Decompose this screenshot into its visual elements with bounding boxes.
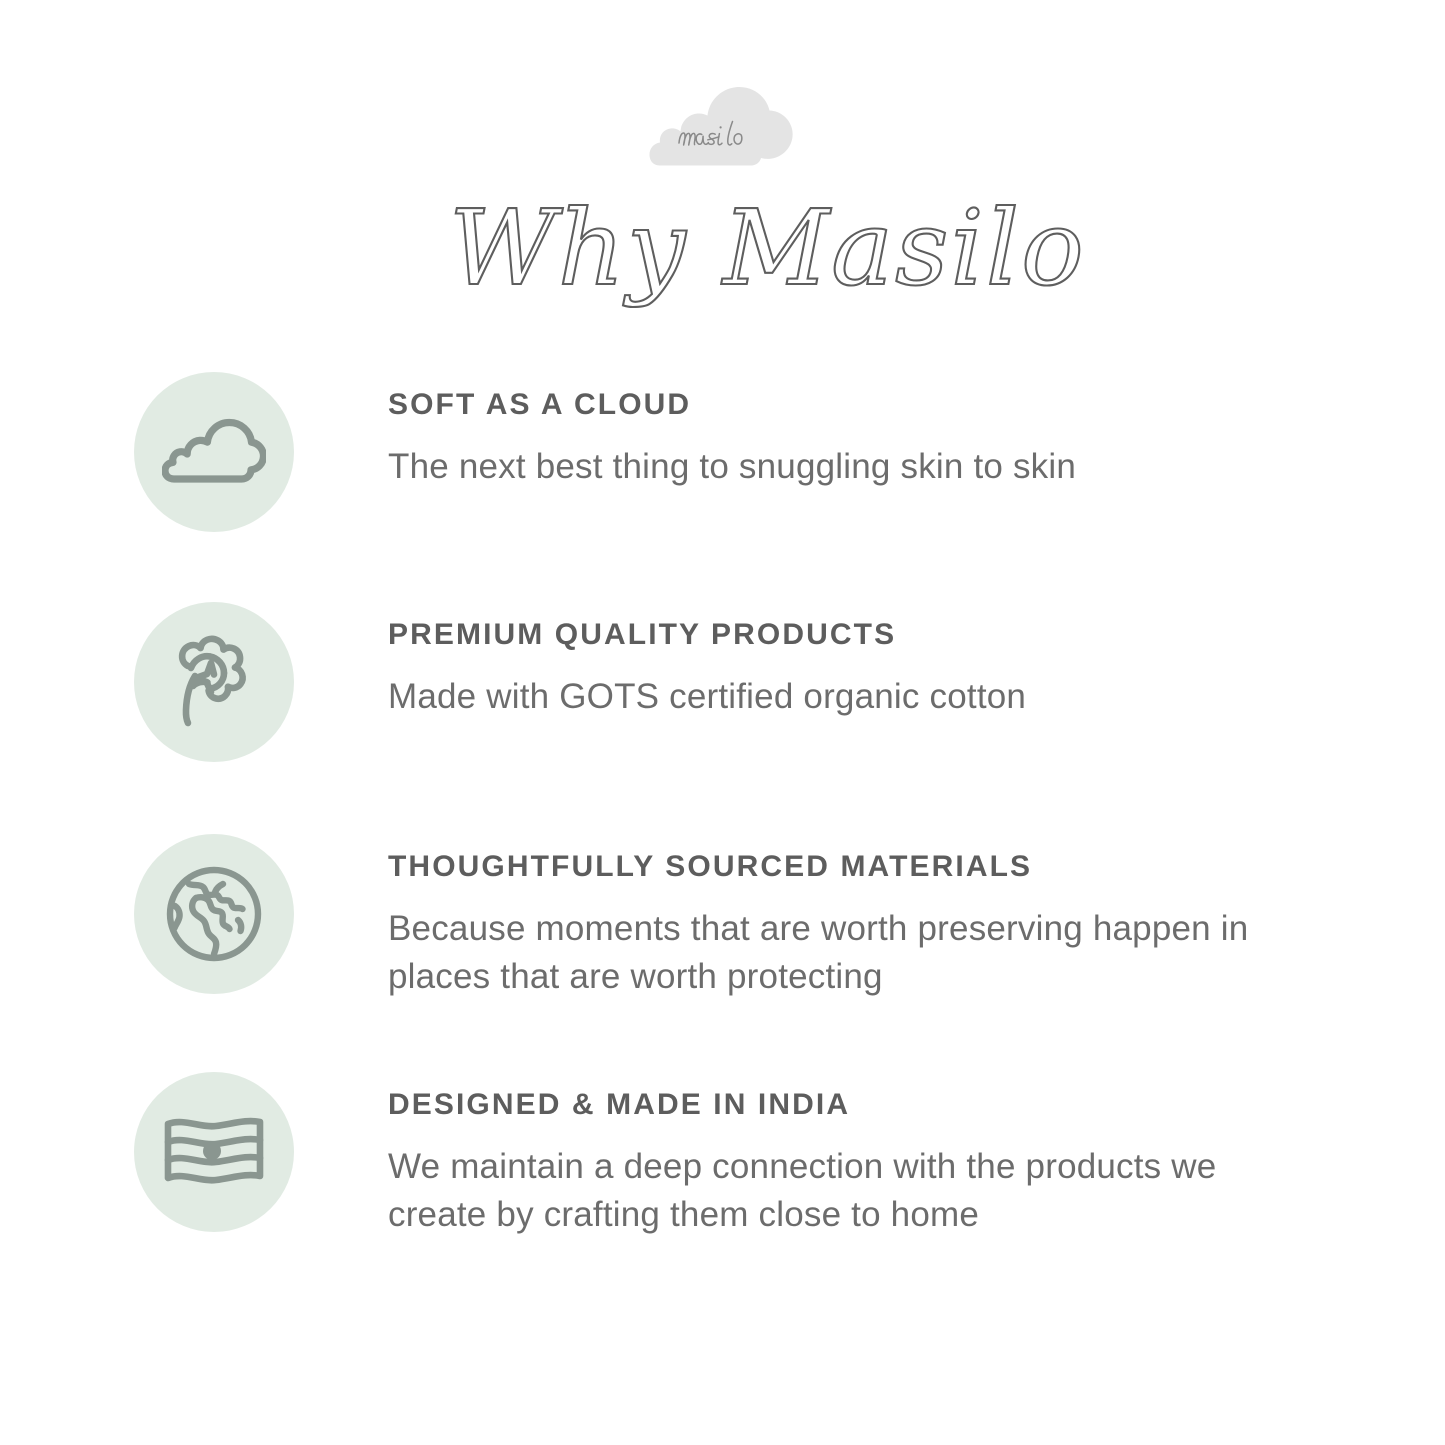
page-title: Why Masilo bbox=[0, 186, 1445, 316]
feature-row: DESIGNED & MADE IN INDIA We maintain a d… bbox=[0, 1072, 1445, 1322]
feature-description: Because moments that are worth preservin… bbox=[388, 905, 1288, 1002]
feature-row: SOFT AS A CLOUD The next best thing to s… bbox=[0, 372, 1445, 602]
cloud-icon bbox=[162, 411, 266, 493]
india-flag-icon bbox=[162, 1114, 266, 1190]
feature-text-block: THOUGHTFULLY SOURCED MATERIALS Because m… bbox=[294, 834, 1288, 1002]
globe-icon bbox=[162, 862, 266, 966]
feature-description: The next best thing to snuggling skin to… bbox=[388, 443, 1288, 491]
feature-icon-badge bbox=[134, 372, 294, 532]
brand-logo[interactable] bbox=[0, 78, 1445, 170]
feature-row: THOUGHTFULLY SOURCED MATERIALS Because m… bbox=[0, 834, 1445, 1072]
feature-title: PREMIUM QUALITY PRODUCTS bbox=[388, 618, 1288, 651]
feature-text-block: PREMIUM QUALITY PRODUCTS Made with GOTS … bbox=[294, 602, 1288, 721]
feature-description: We maintain a deep connection with the p… bbox=[388, 1143, 1288, 1240]
feature-title: THOUGHTFULLY SOURCED MATERIALS bbox=[388, 850, 1288, 883]
chakra-dot bbox=[203, 1142, 221, 1160]
cloud-logo-icon bbox=[649, 81, 797, 167]
feature-icon-badge bbox=[134, 1072, 294, 1232]
cotton-boll-icon bbox=[166, 632, 262, 732]
feature-text-block: SOFT AS A CLOUD The next best thing to s… bbox=[294, 372, 1288, 491]
feature-icon-badge bbox=[134, 602, 294, 762]
why-masilo-page: Why Masilo SOFT AS A CLOUD The next best… bbox=[0, 0, 1445, 1445]
page-title-text: Why Masilo bbox=[449, 187, 1086, 309]
feature-row: PREMIUM QUALITY PRODUCTS Made with GOTS … bbox=[0, 602, 1445, 834]
feature-title: SOFT AS A CLOUD bbox=[388, 388, 1288, 421]
feature-icon-badge bbox=[134, 834, 294, 994]
feature-description: Made with GOTS certified organic cotton bbox=[388, 673, 1288, 721]
feature-list: SOFT AS A CLOUD The next best thing to s… bbox=[0, 372, 1445, 1322]
feature-title: DESIGNED & MADE IN INDIA bbox=[388, 1088, 1288, 1121]
feature-text-block: DESIGNED & MADE IN INDIA We maintain a d… bbox=[294, 1072, 1288, 1240]
